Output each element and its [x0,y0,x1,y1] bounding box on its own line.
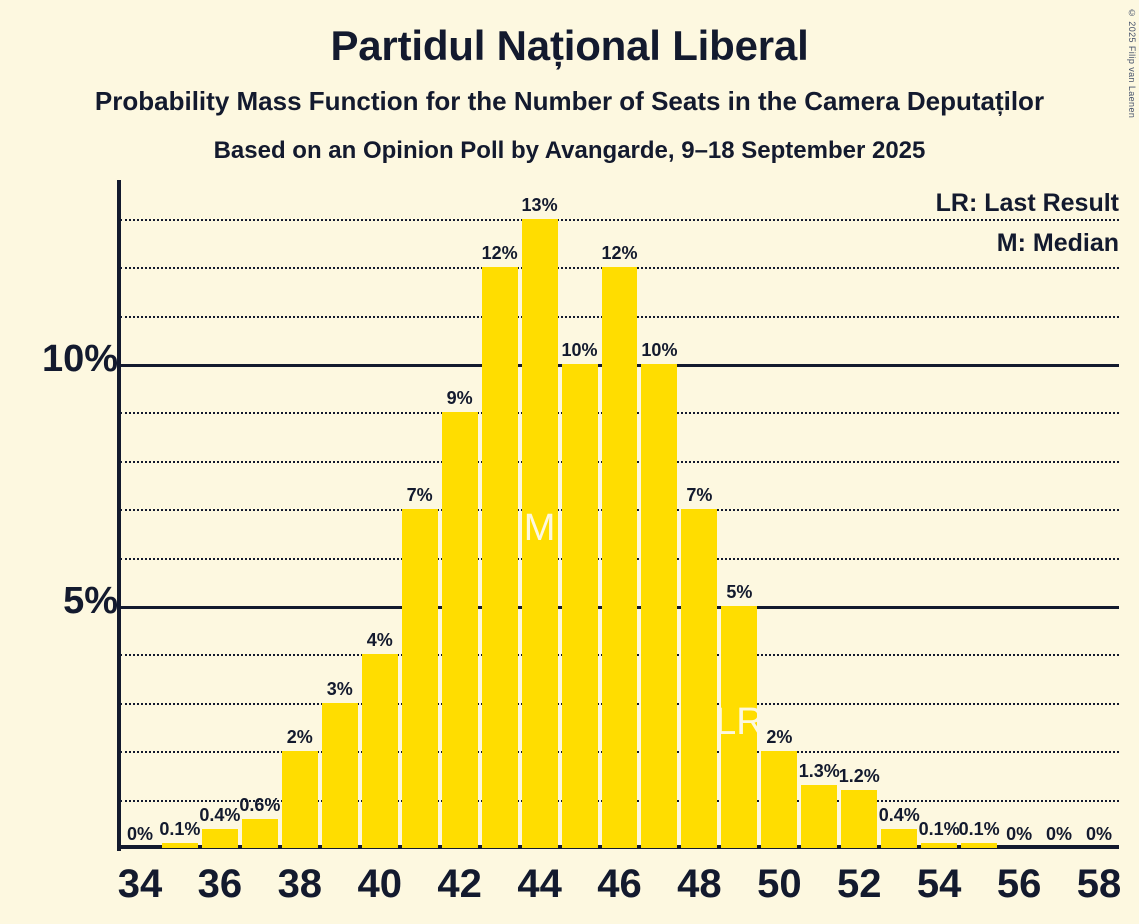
bar-value-label: 7% [392,485,448,506]
bar[interactable] [801,785,837,848]
bar-value-label: 1.2% [831,766,887,787]
copyright-notice: © 2025 Filip van Laenen [1127,8,1137,118]
x-axis-tick-label: 42 [420,862,500,907]
bar[interactable] [562,364,598,848]
bar-value-label: 3% [312,679,368,700]
x-axis-tick-label: 56 [979,862,1059,907]
bar[interactable] [322,703,358,848]
chart-root: Partidul Național Liberal Probability Ma… [0,0,1139,924]
bar[interactable] [641,364,677,848]
chart-source-line: Based on an Opinion Poll by Avangarde, 9… [0,137,1139,165]
last-result-marker: LR [709,701,769,744]
x-axis-tick-label: 34 [100,862,180,907]
y-axis-tick-label: 10% [42,338,118,381]
bar[interactable] [402,509,438,848]
median-marker: M [510,507,570,550]
bar-value-label: 0% [1071,824,1127,845]
bar[interactable] [482,267,518,848]
gridline-minor [120,219,1119,221]
bar-value-label: 2% [272,727,328,748]
bar[interactable] [921,843,957,848]
x-axis-tick-label: 48 [659,862,739,907]
y-axis-tick-label: 5% [63,580,118,623]
plot-area [120,180,1119,848]
bar-value-label: 13% [512,195,568,216]
bar-value-label: 7% [671,485,727,506]
x-axis-tick-label: 36 [180,862,260,907]
bar-value-label: 10% [631,340,687,361]
x-axis-tick-label: 40 [340,862,420,907]
x-axis-tick-label: 58 [1059,862,1139,907]
x-axis-tick-label: 46 [580,862,660,907]
bar[interactable] [442,412,478,848]
x-axis-tick-label: 44 [500,862,580,907]
bar-value-label: 9% [432,388,488,409]
bar-value-label: 12% [472,243,528,264]
x-axis-tick-label: 50 [739,862,819,907]
bar-value-label: 5% [711,582,767,603]
bar-value-label: 4% [352,630,408,651]
chart-subtitle: Probability Mass Function for the Number… [0,86,1139,117]
bar-value-label: 10% [552,340,608,361]
bar-value-label: 12% [592,243,648,264]
bar[interactable] [681,509,717,848]
page-title: Partidul Național Liberal [0,22,1139,70]
x-axis-tick-label: 38 [260,862,340,907]
x-axis-tick-label: 52 [819,862,899,907]
x-axis-tick-label: 54 [899,862,979,907]
bar-value-label: 0.6% [232,795,288,816]
